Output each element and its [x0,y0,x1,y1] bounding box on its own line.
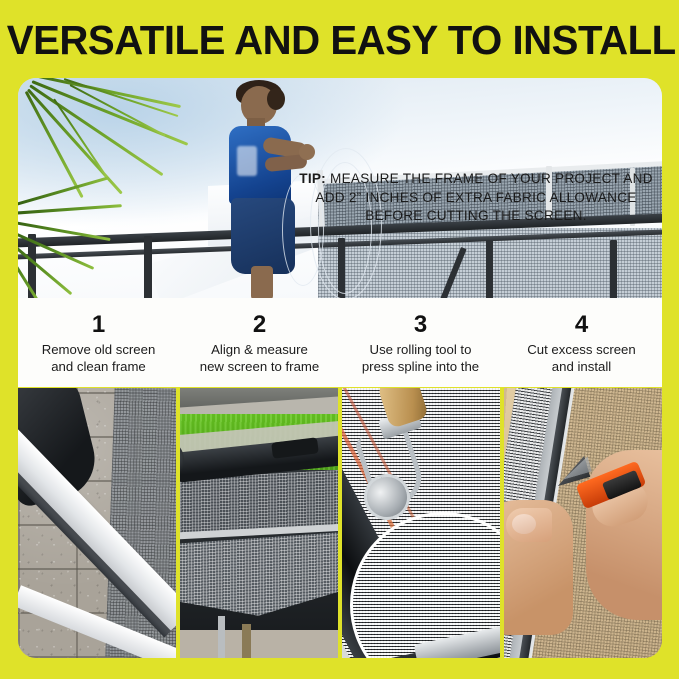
tip-text: MEASURE THE FRAME OF YOUR PROJECT AND AD… [315,171,652,223]
step-photo-2 [180,388,338,658]
step-number: 1 [92,312,105,338]
inset-tool [414,618,500,658]
frame-post-right [486,240,493,299]
step-label: Remove old screen and clean frame [42,341,156,375]
step-item-1: 1 Remove old screen and clean frame [18,298,179,387]
fingernail [512,514,536,534]
frame-post-mid [144,236,152,299]
step-item-4: 4 Cut excess screen and install [501,298,662,387]
step-photo-4 [504,388,662,658]
step-label: Align & measure new screen to frame [200,341,319,375]
worker-hair-side [267,88,285,110]
step-item-2: 2 Align & measure new screen to frame [179,298,340,387]
step-label: Cut excess screen and install [527,341,635,375]
page-title: VERSATILE AND EASY TO INSTALL [7,16,672,64]
step-photo-1 [18,388,176,658]
table-leg-wood [242,624,251,658]
worker-leg [251,266,273,299]
worker-shirt-logo [237,146,257,176]
step-photo-row [18,388,662,658]
step-item-3: 3 Use rolling tool to press spline into … [340,298,501,387]
hero-photo: TIP: MEASURE THE FRAME OF YOUR PROJECT A… [18,78,662,299]
step-number: 2 [253,312,266,338]
step-label: Use rolling tool to press spline into th… [362,341,479,375]
infographic-poster: VERSATILE AND EASY TO INSTALL [0,0,679,679]
tip-label: TIP: [299,171,326,186]
step-number: 3 [414,312,427,338]
tip-callout: TIP: MEASURE THE FRAME OF YOUR PROJECT A… [286,170,662,226]
step-number: 4 [575,312,588,338]
table-leg [218,616,225,658]
palm-fronds-lower [18,196,132,299]
worker-hand [299,144,315,160]
frame-post-far-right [610,240,617,299]
step-photo-3 [342,388,500,658]
steps-band: 1 Remove old screen and clean frame 2 Al… [18,298,662,387]
